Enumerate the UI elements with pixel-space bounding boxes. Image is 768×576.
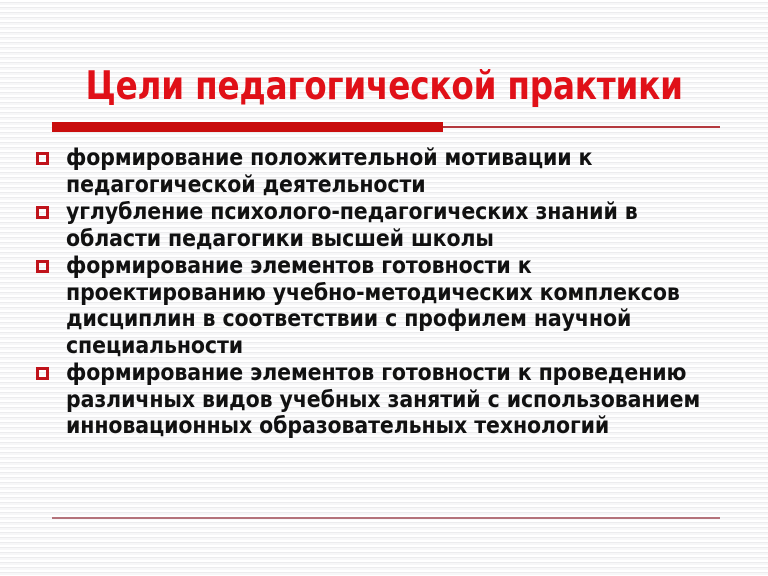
list-item-label: формирование элементов готовности к пров…: [66, 359, 716, 439]
square-outline-icon: [36, 367, 49, 380]
list-item: углубление психолого-педагогических знан…: [36, 198, 736, 251]
bottom-rule: [52, 517, 720, 519]
title-divider: [52, 122, 720, 132]
square-outline-icon: [36, 152, 49, 165]
square-outline-icon: [36, 206, 49, 219]
list-item-label: формирование положительной мотивации к п…: [66, 144, 716, 197]
list-item-label: формирование элементов готовности к прое…: [66, 252, 716, 358]
presentation-slide: Цели педагогической практики формировани…: [0, 0, 768, 576]
bullet-list: формирование положительной мотивации к п…: [36, 144, 736, 440]
list-item-label: углубление психолого-педагогических знан…: [66, 198, 716, 251]
page-title: Цели педагогической практики: [85, 64, 682, 110]
square-outline-icon: [36, 260, 49, 273]
list-item: формирование элементов готовности к пров…: [36, 359, 736, 439]
divider-thick-bar: [52, 122, 443, 132]
list-item: формирование элементов готовности к прое…: [36, 252, 736, 358]
list-item: формирование положительной мотивации к п…: [36, 144, 736, 197]
